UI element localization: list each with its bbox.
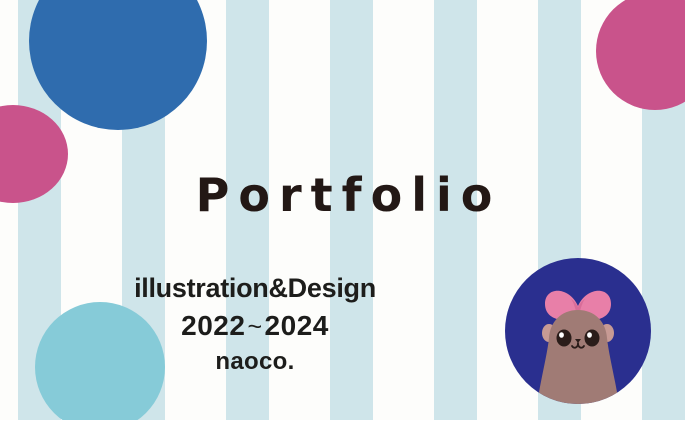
subtitle-discipline: illustration&Design [40,274,470,302]
portfolio-cover: Portfolio illustration&Design 2022~2024 … [0,0,688,424]
avatar [505,258,651,404]
mouse-character-icon [505,258,651,404]
year-end: 2024 [265,310,329,341]
subtitle-block: illustration&Design 2022~2024 naoco. [40,274,470,377]
author-name: naoco. [40,347,470,377]
year-separator: ~ [245,313,264,341]
year-start: 2022 [181,310,245,341]
page-title: Portfolio [0,172,688,218]
subtitle-year-range: 2022~2024 [40,308,470,344]
